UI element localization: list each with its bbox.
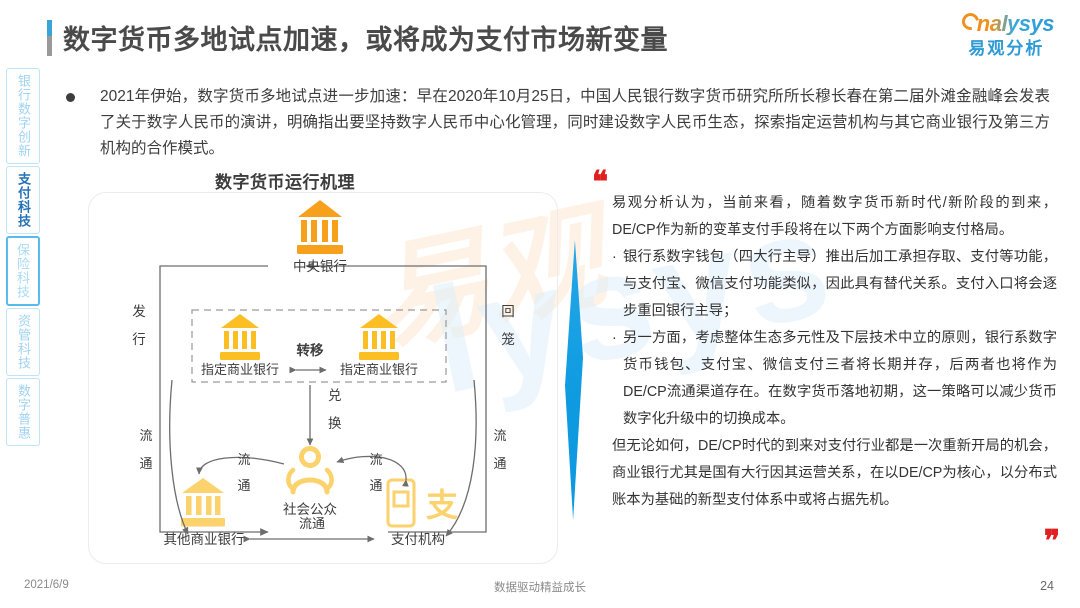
- sidebar-item-insurance-tech[interactable]: 保险科技: [6, 236, 40, 306]
- central-bank-icon: [297, 200, 343, 254]
- intro-bullet-text: 2021年伊始，数字货币多地试点进一步加速：早在2020年10月25日，中国人民…: [100, 84, 1050, 162]
- designated-bank-right-icon: [359, 314, 399, 360]
- edge-label-exchange-2: 换: [328, 416, 342, 431]
- edge-label-issue-2: 行: [132, 332, 146, 347]
- analysis-panel: 易观分析认为，当前来看，随着数字货币新时代/新阶段的到来，DE/CP作为新的变革…: [612, 190, 1057, 514]
- other-commercial-bank-icon: [181, 478, 225, 527]
- svg-text:支: 支: [426, 487, 458, 523]
- slide-root: 易观 lysys 数字货币多地试点加速，或将成为支付市场新变量 nalysys …: [0, 0, 1080, 608]
- bullet-dot-icon: [66, 93, 75, 102]
- quote-close-icon: ❞: [1044, 527, 1058, 557]
- payment-institution-icon: 支: [388, 480, 458, 526]
- edge-label-exchange-1: 兑: [328, 388, 342, 403]
- edge-label-withdraw-1: 回: [501, 304, 515, 319]
- logo-subtitle: 易观分析: [959, 40, 1054, 57]
- logo-wordmark: nalysys: [977, 13, 1054, 35]
- sidebar-item-digital-inclusive-finance[interactable]: 数字普惠: [6, 378, 40, 446]
- footer: 2021/6/9 数据驱动精益成长 24: [0, 579, 1080, 597]
- edge-label-circulate-public-right-1: 流: [369, 452, 382, 467]
- edge-label-transfer: 转移: [297, 342, 324, 358]
- blue-lens-divider: [565, 240, 583, 520]
- page-title-wrap: 数字货币多地试点加速，或将成为支付市场新变量: [47, 18, 668, 57]
- analysis-bullet-dot-icon: ·: [612, 325, 623, 433]
- analysis-bullet-1: · 银行系数字钱包（四大行主导）推出后加工承担存取、支付等功能，与支付宝、微信支…: [612, 244, 1057, 325]
- footer-slogan: 数据驱动精益成长: [0, 579, 1080, 595]
- brand-logo: nalysys 易观分析: [959, 13, 1054, 57]
- analysis-bullet-2: · 另一方面，考虑整体生态多元性及下层技术中立的原则，银行系数字货币钱包、支付宝…: [612, 325, 1057, 433]
- edge-label-issue-1: 发: [132, 304, 146, 319]
- edge-label-circulate-left-1: 流: [139, 428, 152, 443]
- analysis-bullet-dot-icon: ·: [612, 244, 623, 325]
- intro-bullet: 2021年伊始，数字货币多地试点进一步加速：早在2020年10月25日，中国人民…: [66, 84, 1051, 162]
- edge-label-circulate-right-2: 通: [493, 456, 506, 471]
- edge-label-circulate-bottom: 流通: [299, 516, 325, 531]
- node-label-public: 社会公众: [283, 502, 337, 517]
- edge-label-withdraw-2: 笼: [501, 331, 515, 347]
- diagram-title: 数字货币运行机理: [0, 168, 570, 193]
- digital-currency-flow-diagram: 中央银行 发 行 回 笼 指定商业银行 指定商业银行 转移: [88, 192, 558, 564]
- public-people-icon: [288, 449, 331, 493]
- edge-label-circulate-public-left-1: 流: [237, 452, 250, 467]
- node-label-payment-institution: 支付机构: [391, 532, 445, 547]
- edge-label-circulate-left-2: 通: [139, 456, 152, 471]
- node-label-designated-bank-right: 指定商业银行: [340, 362, 418, 377]
- analysis-bullet-2-text: 另一方面，考虑整体生态多元性及下层技术中立的原则，银行系数字货币钱包、支付宝、微…: [623, 325, 1057, 433]
- node-label-designated-bank-left: 指定商业银行: [201, 362, 279, 377]
- sidebar[interactable]: 银行数字创新 支付科技 保险科技 资管科技 数字普惠: [6, 68, 40, 446]
- analysis-bullet-1-text: 银行系数字钱包（四大行主导）推出后加工承担存取、支付等功能，与支付宝、微信支付功…: [623, 244, 1057, 325]
- node-label-other-bank: 其他商业银行: [164, 532, 245, 547]
- page-title: 数字货币多地试点加速，或将成为支付市场新变量: [63, 18, 668, 57]
- edge-label-circulate-right-1: 流: [493, 428, 506, 443]
- sidebar-item-asset-management-tech[interactable]: 资管科技: [6, 308, 40, 376]
- quote-open-icon: ❝: [592, 168, 606, 198]
- edge-label-circulate-public-left-2: 通: [237, 478, 250, 493]
- footer-page-number: 24: [1040, 579, 1054, 593]
- title-accent-bar: [47, 20, 52, 56]
- node-label-central-bank: 中央银行: [293, 259, 347, 274]
- designated-bank-left-icon: [220, 314, 260, 360]
- sidebar-item-bank-digital-innovation[interactable]: 银行数字创新: [6, 68, 40, 164]
- analysis-closing: 但无论如何，DE/CP时代的到来对支付行业都是一次重新开局的机会，商业银行尤其是…: [612, 433, 1057, 514]
- edge-label-circulate-public-right-2: 通: [369, 478, 382, 493]
- analysis-intro: 易观分析认为，当前来看，随着数字货币新时代/新阶段的到来，DE/CP作为新的变革…: [612, 190, 1057, 244]
